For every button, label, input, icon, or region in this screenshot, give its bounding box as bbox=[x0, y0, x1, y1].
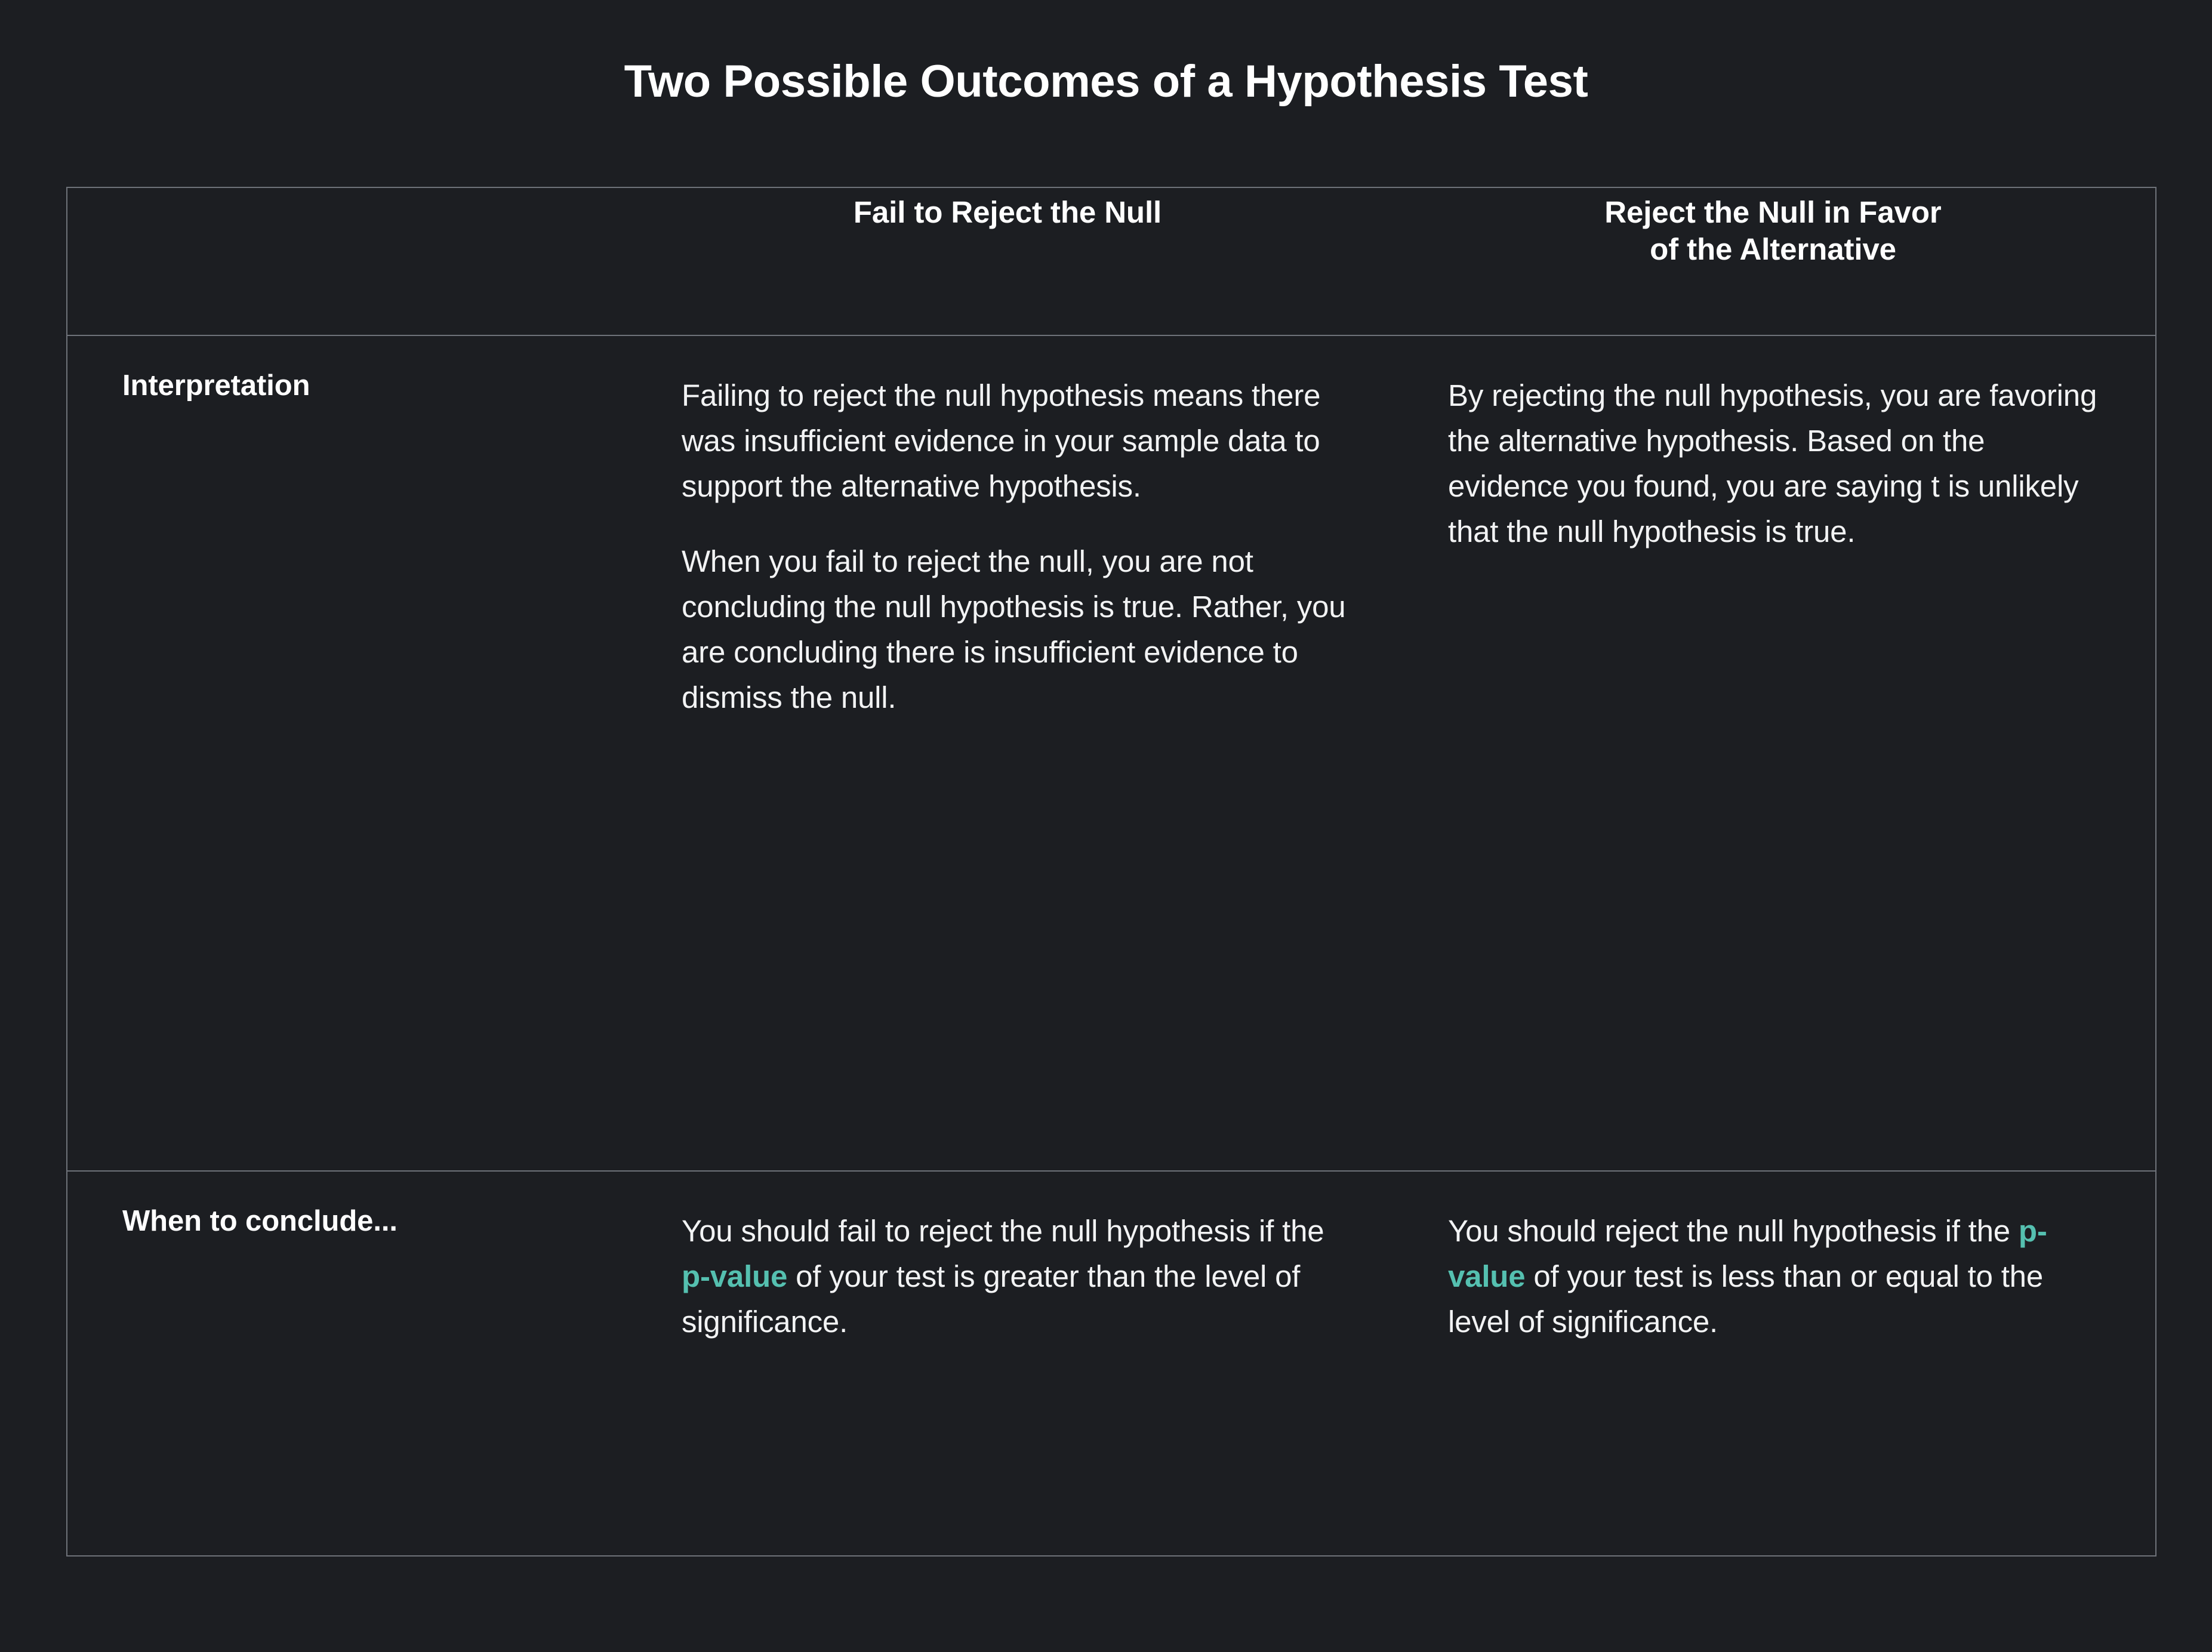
column-header-reject-line1: Reject the Null in Favor bbox=[1604, 195, 1941, 229]
table-corner-cell bbox=[67, 188, 624, 335]
text-segment: You should reject the null hypothesis if… bbox=[1448, 1214, 2019, 1248]
table-row: Interpretation Failing to reject the nul… bbox=[67, 335, 2155, 1171]
paragraph: You should fail to reject the null hypot… bbox=[682, 1209, 1347, 1345]
paragraph: You should reject the null hypothesis if… bbox=[1448, 1209, 2111, 1345]
outcomes-table: Fail to Reject the Null Reject the Null … bbox=[67, 188, 2155, 1557]
column-header-reject: Reject the Null in Favor of the Alternat… bbox=[1391, 188, 2155, 335]
paragraph: Failing to reject the null hypothesis me… bbox=[682, 373, 1347, 509]
column-header-reject-line2: of the Alternative bbox=[1650, 232, 1896, 266]
outcomes-table-container: Fail to Reject the Null Reject the Null … bbox=[66, 187, 2156, 1557]
cell-interpretation-reject: By rejecting the null hypothesis, you ar… bbox=[1391, 335, 2155, 1171]
column-header-fail-to-reject: Fail to Reject the Null bbox=[624, 188, 1391, 335]
text-segment: You should fail to reject the null hypot… bbox=[682, 1214, 1324, 1248]
p-value-keyword: p-value bbox=[682, 1259, 787, 1293]
table-row: When to conclude... You should fail to r… bbox=[67, 1171, 2155, 1557]
cell-interpretation-fail-to-reject: Failing to reject the null hypothesis me… bbox=[624, 335, 1391, 1171]
row-label-when-to-conclude: When to conclude... bbox=[67, 1171, 624, 1557]
text-segment: of your test is less than or equal to th… bbox=[1448, 1259, 2043, 1339]
paragraph: When you fail to reject the null, you ar… bbox=[682, 539, 1347, 720]
row-label-interpretation: Interpretation bbox=[67, 335, 624, 1171]
table-header-row: Fail to Reject the Null Reject the Null … bbox=[67, 188, 2155, 335]
slide-canvas: Two Possible Outcomes of a Hypothesis Te… bbox=[0, 0, 2212, 1652]
page-title: Two Possible Outcomes of a Hypothesis Te… bbox=[0, 57, 2212, 107]
cell-conclude-reject: You should reject the null hypothesis if… bbox=[1391, 1171, 2155, 1557]
paragraph: By rejecting the null hypothesis, you ar… bbox=[1448, 373, 2111, 554]
cell-conclude-fail-to-reject: You should fail to reject the null hypot… bbox=[624, 1171, 1391, 1557]
